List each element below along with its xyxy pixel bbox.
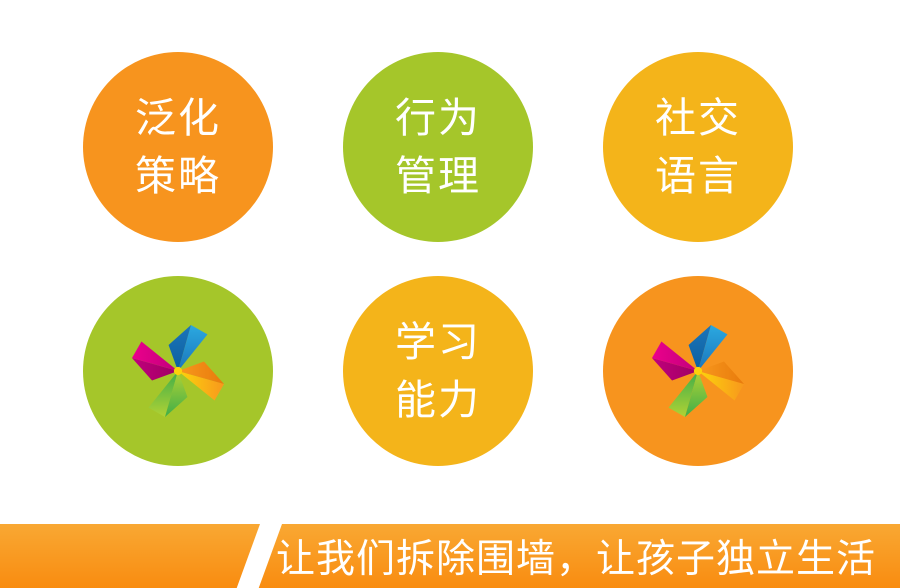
bubble-label-line1: 泛化 <box>135 89 221 147</box>
bubble-label-line2: 策略 <box>135 147 221 205</box>
bubble-logo-green[interactable] <box>83 276 273 466</box>
pinwheel-icon <box>638 312 758 430</box>
bubble-behavior-management[interactable]: 行为 管理 <box>343 52 533 242</box>
pinwheel-icon <box>118 312 238 430</box>
pinwheel-hub <box>174 367 182 375</box>
bubble-label-line1: 社交 <box>655 89 741 147</box>
bubble-label-line1: 学习 <box>395 313 481 371</box>
bubble-learning-ability[interactable]: 学习 能力 <box>343 276 533 466</box>
bubble-label-line2: 语言 <box>655 147 741 205</box>
bubble-generalization-strategy[interactable]: 泛化 策略 <box>83 52 273 242</box>
slide-canvas: 泛化 策略 行为 管理 社交 语言 学习 能力 让我们拆除围墙，让孩子独立生活 <box>0 0 900 588</box>
pinwheel-logo-svg <box>638 312 758 430</box>
bottom-banner: 让我们拆除围墙，让孩子独立生活 <box>0 524 900 588</box>
bubble-label-line1: 行为 <box>395 89 481 147</box>
pinwheel-logo-svg <box>118 312 238 430</box>
bubble-social-language[interactable]: 社交 语言 <box>603 52 793 242</box>
bubble-label-line2: 能力 <box>395 371 481 429</box>
bubble-label-line2: 管理 <box>395 147 481 205</box>
circle-grid: 泛化 策略 行为 管理 社交 语言 学习 能力 <box>0 0 900 520</box>
banner-tagline: 让我们拆除围墙，让孩子独立生活 <box>276 524 876 588</box>
bubble-logo-orange[interactable] <box>603 276 793 466</box>
pinwheel-hub <box>694 367 702 375</box>
